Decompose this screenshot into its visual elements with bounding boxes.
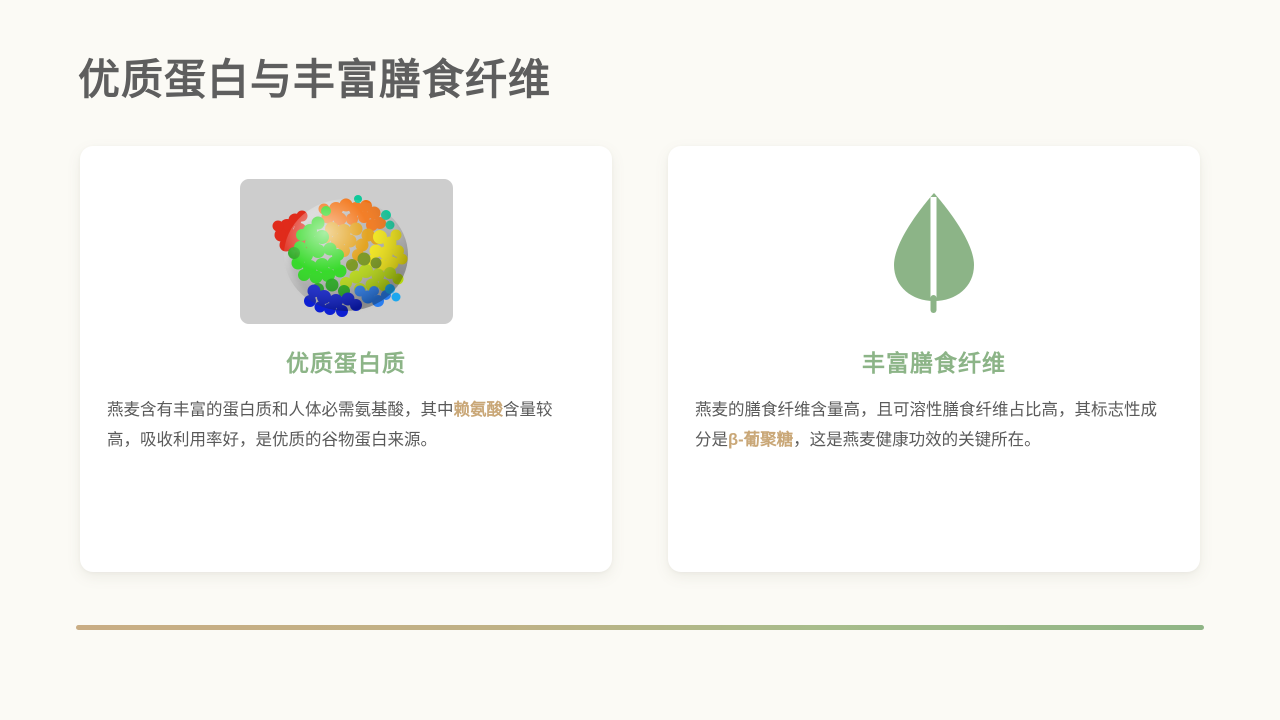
feature-card-row: 优质蛋白质 燕麦含有丰富的蛋白质和人体必需氨基酸，其中赖氨酸含量较高，吸收利用率… bbox=[80, 146, 1200, 572]
card-title: 丰富膳食纤维 bbox=[862, 350, 1006, 378]
card-body-highlight: 赖氨酸 bbox=[454, 401, 504, 419]
card-media-protein bbox=[240, 176, 453, 326]
card-body-text-after: ，这是燕麦健康功效的关键所在。 bbox=[793, 431, 1041, 449]
card-title: 优质蛋白质 bbox=[286, 350, 406, 378]
card-body-text-before: 燕麦含有丰富的蛋白质和人体必需氨基酸，其中 bbox=[107, 401, 454, 419]
feature-card-protein[interactable]: 优质蛋白质 燕麦含有丰富的蛋白质和人体必需氨基酸，其中赖氨酸含量较高，吸收利用率… bbox=[80, 146, 612, 572]
card-body-highlight: β-葡聚糖 bbox=[728, 431, 793, 449]
protein-structure-image bbox=[240, 179, 453, 324]
feature-card-fiber[interactable]: 丰富膳食纤维 燕麦的膳食纤维含量高，且可溶性膳食纤维占比高，其标志性成分是β-葡… bbox=[668, 146, 1200, 572]
card-body: 燕麦含有丰富的蛋白质和人体必需氨基酸，其中赖氨酸含量较高，吸收利用率好，是优质的… bbox=[106, 395, 586, 456]
bottom-gradient-divider bbox=[76, 625, 1204, 630]
leaf-icon bbox=[880, 187, 988, 315]
page-title: 优质蛋白与丰富膳食纤维 bbox=[78, 56, 551, 104]
slide: 优质蛋白与丰富膳食纤维 bbox=[0, 0, 1280, 720]
card-body: 燕麦的膳食纤维含量高，且可溶性膳食纤维占比高，其标志性成分是β-葡聚糖，这是燕麦… bbox=[694, 395, 1174, 456]
card-media-leaf bbox=[880, 176, 988, 326]
